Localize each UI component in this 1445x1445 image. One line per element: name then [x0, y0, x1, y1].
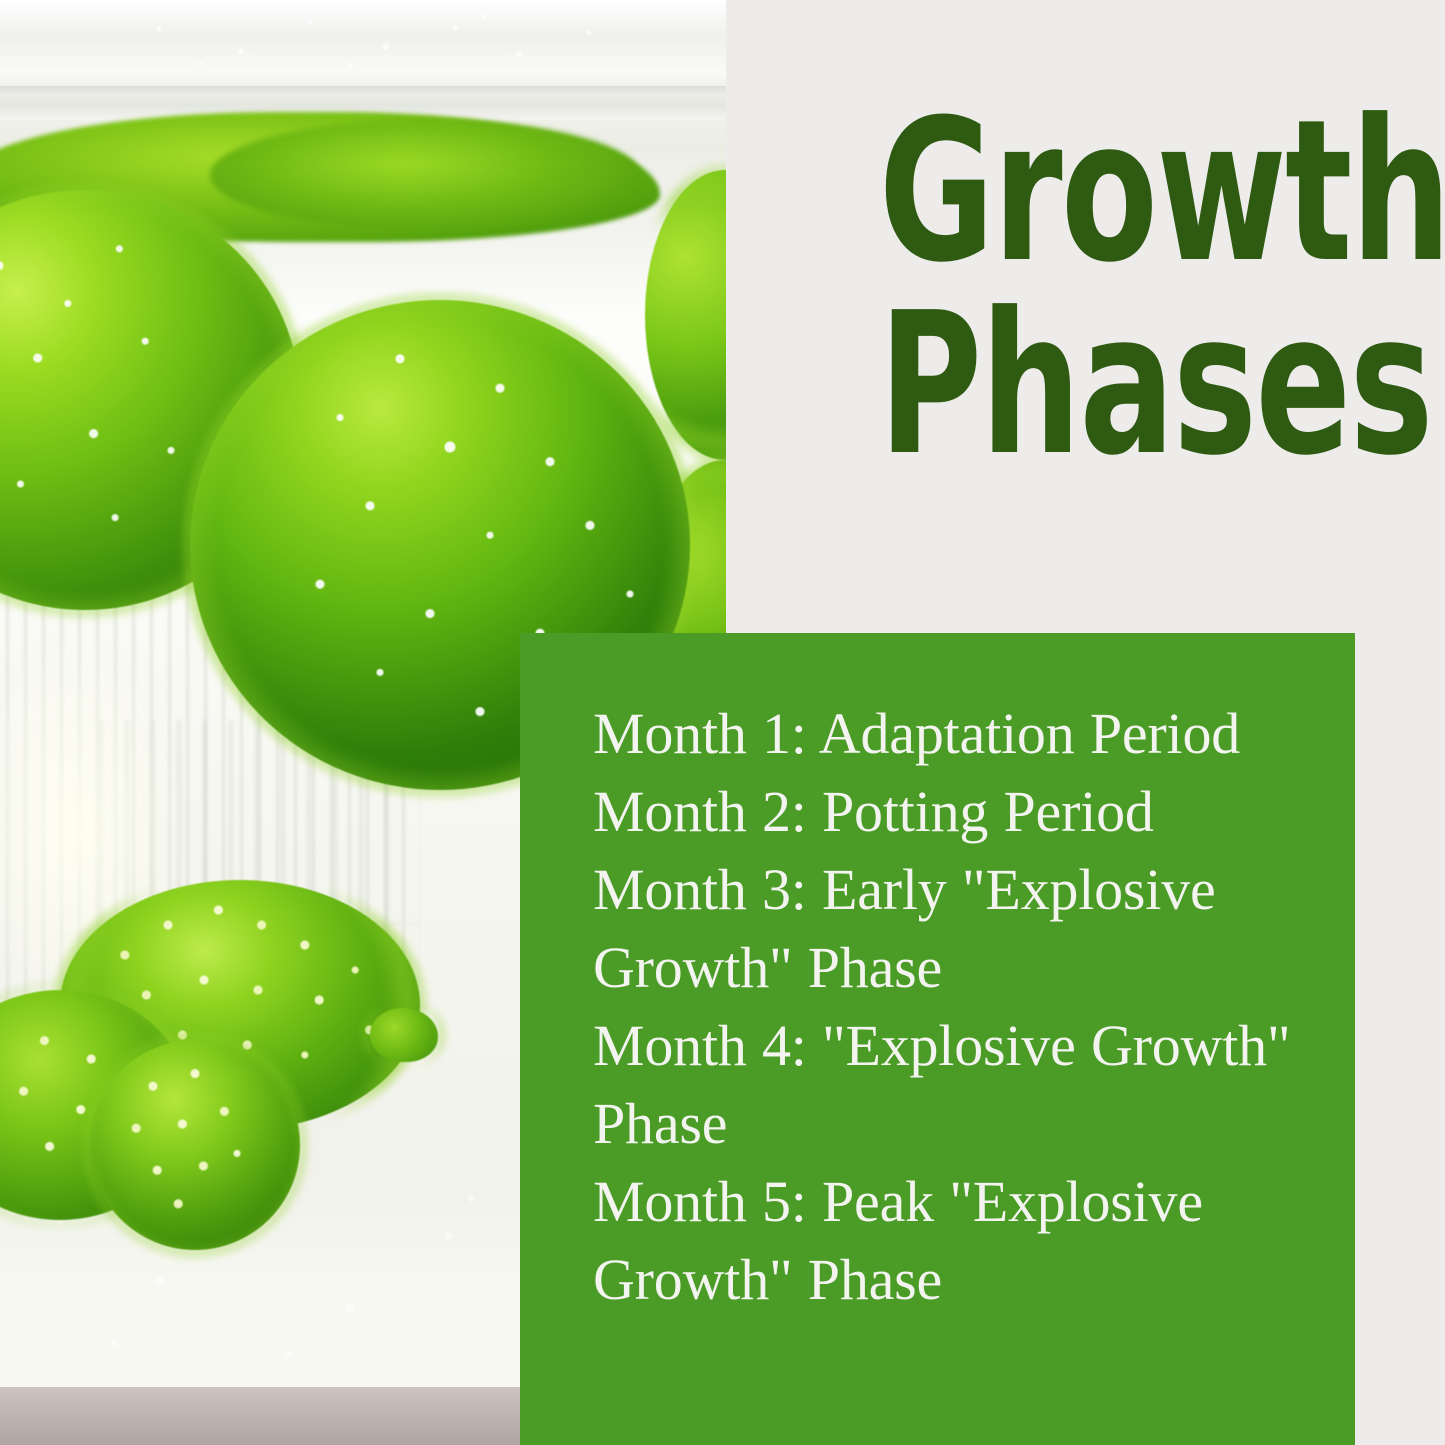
- list-item: Month 2: Potting Period: [593, 773, 1293, 851]
- surface-algae-mat-secondary: [210, 120, 640, 230]
- title-line-1: Growth: [879, 96, 1354, 289]
- phase-list: Month 1: Adaptation Period Month 2: Pott…: [593, 695, 1293, 1319]
- growth-phases-panel: Month 1: Adaptation Period Month 2: Pott…: [520, 633, 1355, 1445]
- moss-ball-bottom-front: [90, 1040, 300, 1250]
- title-line-2: Phases: [879, 289, 1354, 482]
- moss-ball-bottom-nub: [370, 1008, 438, 1062]
- page-title: Growth Phases: [760, 96, 1354, 482]
- infographic-canvas: Growth Phases Month 1: Adaptation Period…: [0, 0, 1445, 1445]
- list-item: Month 5: Peak "Explosive Growth" Phase: [593, 1163, 1293, 1319]
- list-item: Month 4: "Explosive Growth" Phase: [593, 1007, 1293, 1163]
- water-droplets: [90, 8, 670, 78]
- oxygen-bubbles: [90, 1040, 300, 1250]
- list-item: Month 1: Adaptation Period: [593, 695, 1293, 773]
- glass-container-rim: [0, 0, 726, 120]
- list-item: Month 3: Early "Explosive Growth" Phase: [593, 851, 1293, 1007]
